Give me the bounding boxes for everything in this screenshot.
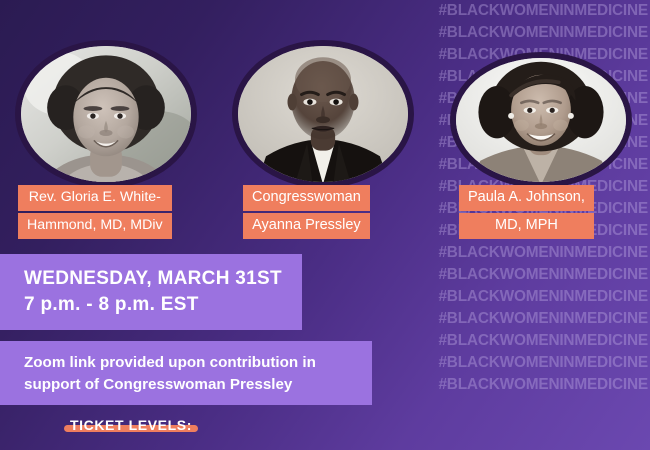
hashtag-line: #BLACKWOMENINMEDICINE [388,242,650,264]
hashtag-line: #BLACKWOMENINMEDICINE [388,352,650,374]
speaker-3-name-line-1: Paula A. Johnson, [459,185,594,211]
speaker-3-nameplate: Paula A. Johnson, MD, MPH [459,185,594,239]
event-date: WEDNESDAY, MARCH 31ST [24,266,302,292]
speaker-2-nameplate: Congresswoman Ayanna Pressley [243,185,370,239]
ticket-levels-label: TICKET LEVELS: [64,417,198,433]
hashtag-line: #BLACKWOMENINMEDICINE [388,308,650,330]
speaker-2-name-line-1: Congresswoman [243,185,370,211]
speaker-1-name-line-2: Hammond, MD, MDiv [18,213,172,239]
event-datetime-box: WEDNESDAY, MARCH 31ST 7 p.m. - 8 p.m. ES… [0,254,302,330]
event-time: 7 p.m. - 8 p.m. EST [24,292,302,318]
speaker-3-name-line-2: MD, MPH [459,213,594,239]
zoom-note-line-1: Zoom link provided upon contribution in [24,352,372,374]
ticket-levels-heading: TICKET LEVELS: [64,417,198,433]
speaker-1-nameplate: Rev. Gloria E. White- Hammond, MD, MDiv [18,185,172,239]
portrait-ayanna-pressley [232,40,414,188]
hashtag-line: #BLACKWOMENINMEDICINE [388,330,650,352]
event-flyer: #BLACKWOMENINMEDICINE#BLACKWOMENINMEDICI… [0,0,650,450]
hashtag-line: #BLACKWOMENINMEDICINE [388,0,650,22]
portrait-image-1 [21,46,191,184]
portrait-image-3 [456,58,626,185]
speaker-1-name-line-1: Rev. Gloria E. White- [18,185,172,211]
hashtag-line: #BLACKWOMENINMEDICINE [388,286,650,308]
hashtag-line: #BLACKWOMENINMEDICINE [388,264,650,286]
zoom-link-note-box: Zoom link provided upon contribution in … [0,341,372,405]
portrait-gloria-white-hammond [15,40,197,188]
portrait-paula-johnson [450,52,632,188]
hashtag-line: #BLACKWOMENINMEDICINE [388,374,650,396]
speaker-2-name-line-2: Ayanna Pressley [243,213,370,239]
zoom-note-line-2: support of Congresswoman Pressley [24,374,372,396]
portrait-image-2 [238,46,408,184]
hashtag-line: #BLACKWOMENINMEDICINE [388,22,650,44]
